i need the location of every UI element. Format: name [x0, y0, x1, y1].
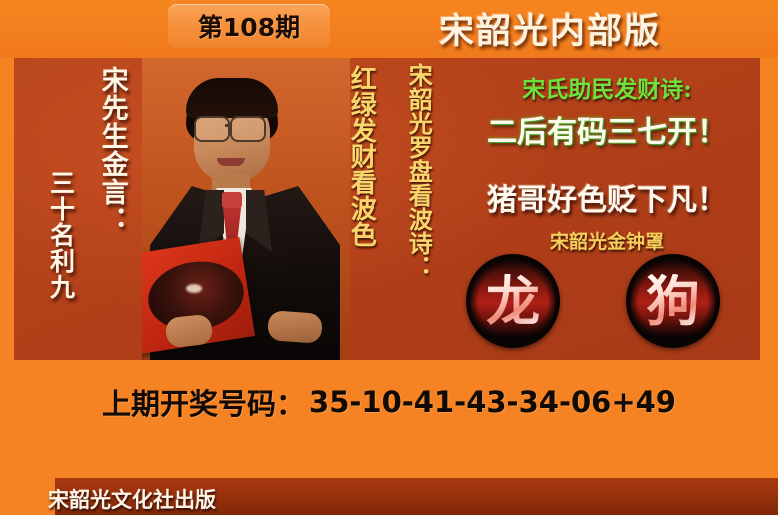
zodiac-badge-dog[interactable]: 狗 — [626, 254, 720, 348]
poster-main-panel: 宋先生金言： 三十名利九 红绿发财看波色 宋韶光罗盘看波诗： 宋氏助民发财诗: … — [14, 58, 760, 360]
poem-heading: 宋氏助民发财诗: — [454, 70, 760, 104]
issue-badge[interactable]: 第108期 — [168, 4, 330, 48]
previous-draw-label: 上期开奖号码： — [102, 381, 305, 423]
page-title: 宋韶光内部版 — [385, 2, 715, 54]
luopan-compass-glint — [186, 284, 202, 293]
glasses-left-lens-icon — [194, 116, 230, 142]
poem-line-2: 猪哥好色贬下凡！ — [454, 175, 760, 219]
header-band: 第108期 宋韶光内部版 — [0, 0, 778, 58]
poem-line-1: 二后有码三七开！ — [454, 107, 760, 151]
issue-badge-label: 第108期 — [198, 8, 300, 44]
vertical-text-fame-fortune: 三十名利九 — [47, 170, 74, 300]
vertical-text-compass-poem: 宋韶光罗盘看波诗： — [406, 63, 431, 279]
portrait-photo — [142, 58, 350, 360]
poem-block: 宋氏助民发财诗: 二后有码三七开！ 猪哥好色贬下凡！ 宋韶光金钟罩 龙 狗 — [454, 58, 760, 360]
glasses-bridge-icon — [225, 124, 232, 127]
portrait-mouth — [217, 158, 245, 166]
publisher-label: 宋韶光文化社出版 — [48, 484, 216, 514]
previous-draw-numbers: 35-10-41-43-34-06+49 — [309, 385, 676, 419]
portrait-hand-right — [267, 310, 323, 344]
portrait-hair-top — [186, 78, 278, 118]
glasses-right-lens-icon — [230, 116, 266, 142]
vertical-text-masters-words: 宋先生金言： — [97, 66, 126, 234]
portrait-necktie-knot — [222, 192, 242, 208]
zodiac-badge-dragon[interactable]: 龙 — [466, 254, 560, 348]
gold-bell-label: 宋韶光金钟罩 — [454, 227, 760, 254]
zodiac-dragon-label: 龙 — [486, 274, 540, 328]
vertical-text-color-wave: 红绿发财看波色 — [347, 65, 374, 247]
zodiac-dog-label: 狗 — [646, 274, 700, 328]
previous-draw-result: 上期开奖号码： 35-10-41-43-34-06+49 — [0, 380, 778, 424]
